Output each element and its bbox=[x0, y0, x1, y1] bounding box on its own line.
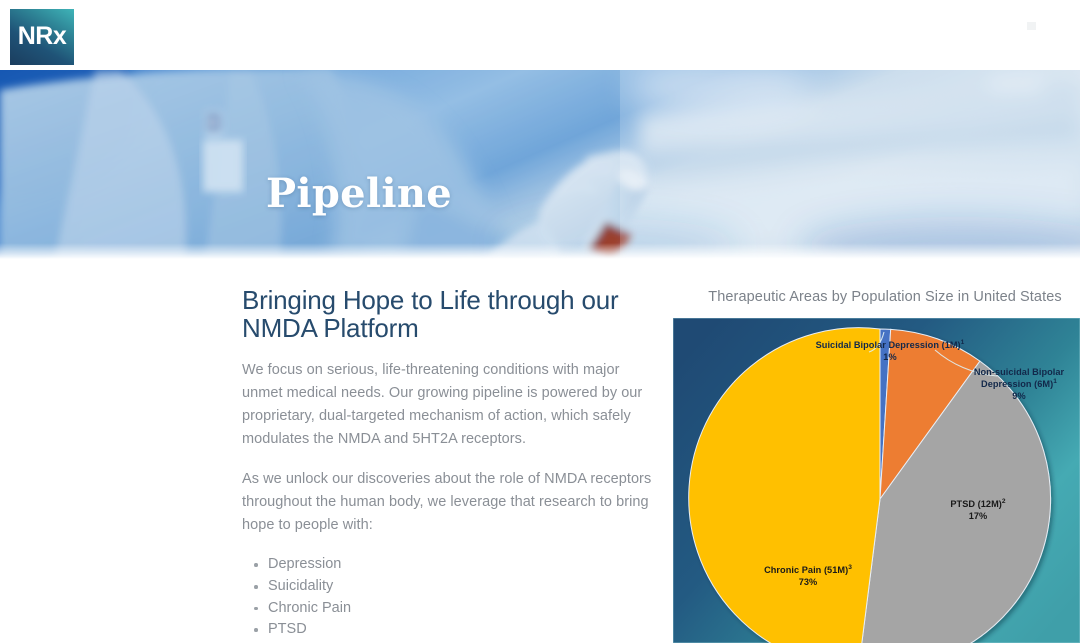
pie-label-footnote: 1 bbox=[1053, 378, 1057, 385]
chart-title: Therapeutic Areas by Population Size in … bbox=[700, 289, 1070, 305]
pie-label-percent: 73% bbox=[799, 577, 818, 587]
hero-banner: Pipeline bbox=[0, 70, 1080, 259]
header-faint-mark-icon bbox=[1027, 22, 1036, 30]
pie-label-footnote: 2 bbox=[1002, 498, 1006, 505]
hero-photo bbox=[0, 70, 1080, 259]
logo-text: NRx bbox=[18, 24, 67, 49]
pie-label-ptsd: PTSD (12M)2 17% bbox=[920, 498, 1036, 522]
hero-bottom-fade bbox=[0, 243, 1080, 259]
list-item: Depression bbox=[242, 554, 657, 576]
hero-title: Pipeline bbox=[266, 174, 452, 214]
pie-label-nonsuicidal-bipolar-depression: Non-suicidal Bipolar Depression (6M)1 9% bbox=[963, 366, 1075, 402]
page-title: Bringing Hope to Life through our NMDA P… bbox=[242, 286, 657, 342]
pie-label-text: Non-suicidal Bipolar Depression (6M) bbox=[974, 367, 1064, 389]
intro-paragraph-1: We focus on serious, life-threatening co… bbox=[242, 359, 657, 451]
pie-label-chronic-pain: Chronic Pain (51M)3 73% bbox=[737, 564, 879, 588]
page-root: NRx bbox=[0, 0, 1080, 643]
pie-label-percent: 17% bbox=[969, 511, 988, 521]
pie-label-suicidal-bipolar-depression: Suicidal Bipolar Depression (1M)1 1% bbox=[795, 339, 985, 363]
main-content: Bringing Hope to Life through our NMDA P… bbox=[0, 259, 1080, 643]
pie-label-percent: 1% bbox=[883, 352, 896, 362]
list-item: PTSD bbox=[242, 619, 657, 641]
site-header: NRx bbox=[0, 0, 1080, 70]
list-item: Chronic Pain bbox=[242, 598, 657, 620]
therapeutic-areas-pie-chart: Suicidal Bipolar Depression (1M)1 1% Non… bbox=[673, 318, 1080, 643]
pie-label-percent: 9% bbox=[1012, 391, 1025, 401]
pie-label-footnote: 1 bbox=[961, 339, 965, 346]
nrx-logo[interactable]: NRx bbox=[10, 9, 74, 65]
list-item: Suicidality bbox=[242, 576, 657, 598]
pie-label-text: PTSD (12M) bbox=[950, 499, 1002, 509]
intro-column: Bringing Hope to Life through our NMDA P… bbox=[242, 286, 657, 643]
pie-label-text: Chronic Pain (51M) bbox=[764, 565, 848, 575]
pie-label-text: Suicidal Bipolar Depression (1M) bbox=[816, 340, 961, 350]
intro-paragraph-2: As we unlock our discoveries about the r… bbox=[242, 468, 657, 537]
conditions-list: Depression Suicidality Chronic Pain PTSD bbox=[242, 554, 657, 640]
pie-label-footnote: 3 bbox=[848, 564, 852, 571]
